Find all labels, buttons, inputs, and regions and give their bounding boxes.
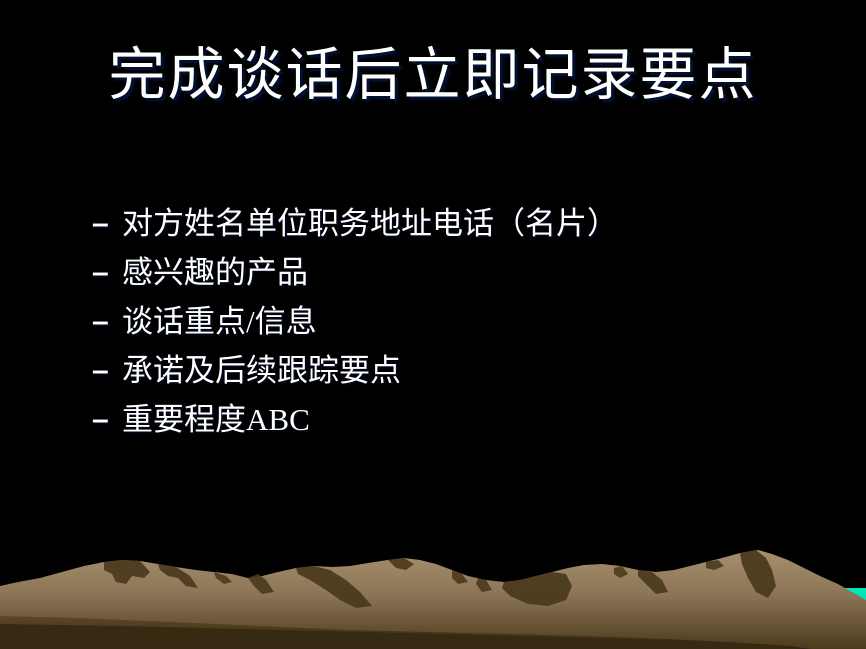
- bullet-text: 感兴趣的产品: [122, 252, 812, 294]
- list-item: – 重要程度ABC: [92, 399, 812, 448]
- list-item: – 承诺及后续跟踪要点: [92, 350, 812, 399]
- bullet-dash-icon: –: [92, 350, 122, 392]
- list-item: – 谈话重点/信息: [92, 301, 812, 350]
- presentation-slide: 完成谈话后立即记录要点 – 对方姓名单位职务地址电话（名片） – 感兴趣的产品 …: [0, 0, 866, 649]
- list-item: – 感兴趣的产品: [92, 252, 812, 301]
- bullet-dash-icon: –: [92, 399, 122, 441]
- slide-title: 完成谈话后立即记录要点: [0, 42, 866, 110]
- bullet-text: 对方姓名单位职务地址电话（名片）: [122, 203, 812, 245]
- bullet-list: – 对方姓名单位职务地址电话（名片） – 感兴趣的产品 – 谈话重点/信息 – …: [92, 203, 812, 448]
- bullet-dash-icon: –: [92, 203, 122, 245]
- mountain-range-graphic: [0, 520, 866, 649]
- list-item: – 对方姓名单位职务地址电话（名片）: [92, 203, 812, 252]
- bullet-dash-icon: –: [92, 301, 122, 343]
- bullet-dash-icon: –: [92, 252, 122, 294]
- bullet-text: 谈话重点/信息: [122, 301, 812, 343]
- bullet-text: 重要程度ABC: [122, 399, 812, 441]
- bullet-text: 承诺及后续跟踪要点: [122, 350, 812, 392]
